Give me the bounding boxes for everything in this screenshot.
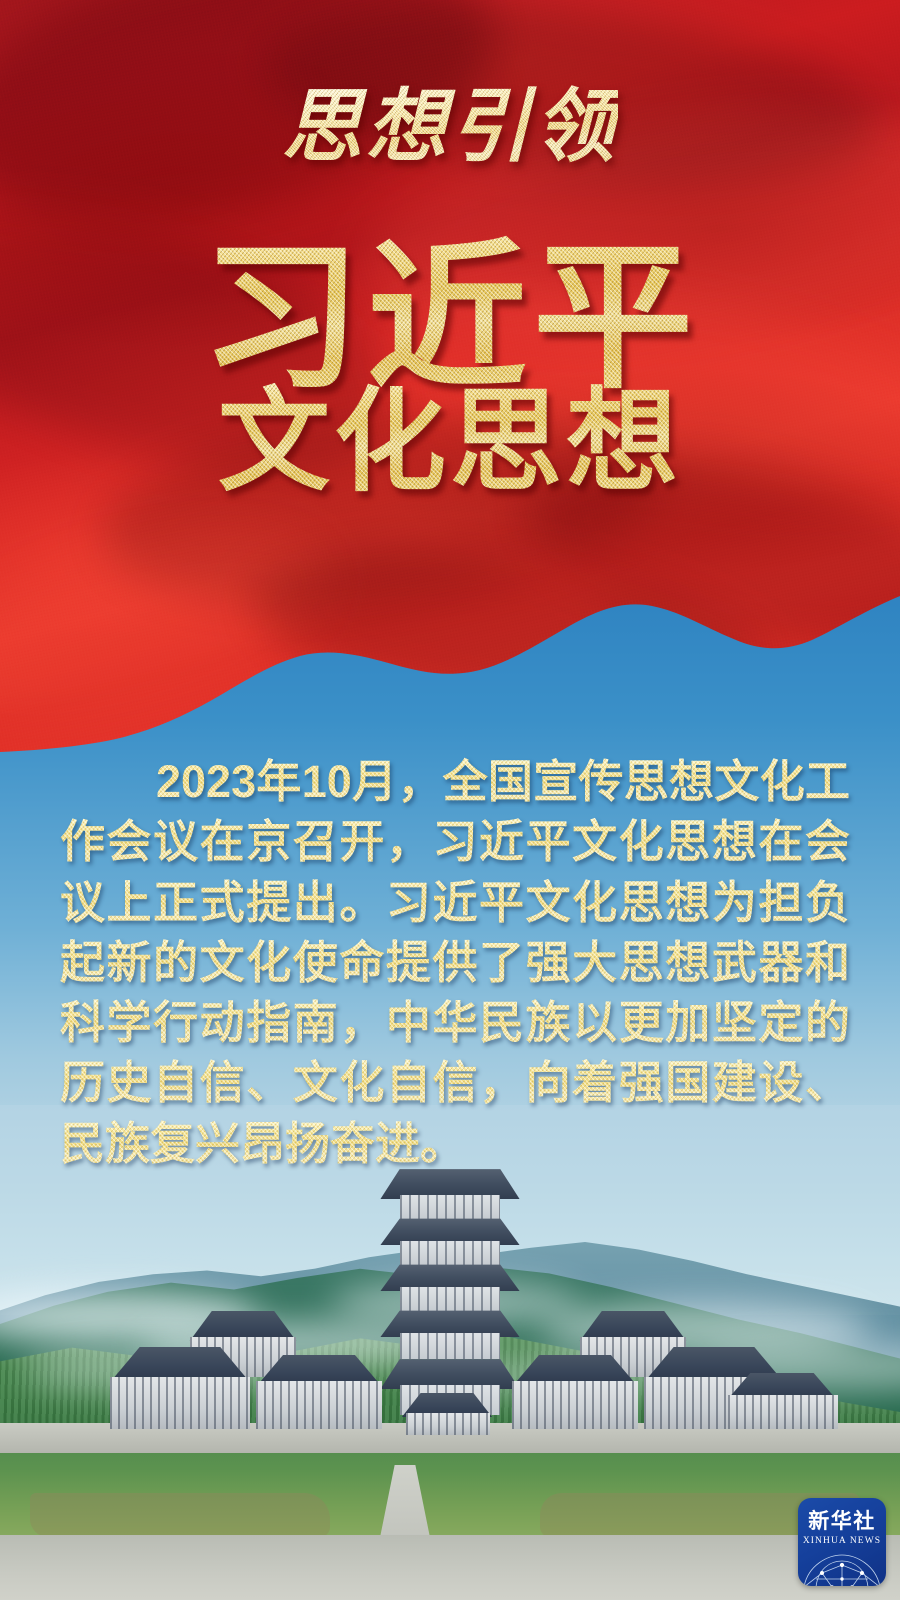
body-paragraph: 2023年10月，全国宣传思想文化工作会议在京召开，习近平文化思想在会议上正式提… — [60, 752, 850, 1174]
hall-body — [512, 1381, 638, 1429]
poster-canvas: 思想引领 习近平 文化思想 2023年10月，全国宣传思想文化工作会议在京召开，… — [0, 0, 900, 1600]
kicker-heading: 思想引领 — [0, 88, 900, 168]
pavilion-storey — [400, 1195, 500, 1219]
pavilion-storey — [400, 1241, 500, 1265]
pavilion-storey — [400, 1333, 500, 1359]
sub-title: 文化思想 — [0, 386, 900, 498]
entry-plaza — [0, 1535, 900, 1600]
pavilion-roof — [376, 1355, 524, 1389]
gate-body — [406, 1413, 490, 1435]
hall-body — [110, 1377, 250, 1429]
hall-body — [256, 1381, 382, 1429]
main-title: 习近平 — [0, 238, 900, 398]
library-photograph: 新华社 XINHUA NEWS — [0, 1105, 900, 1600]
hall-body — [728, 1395, 838, 1429]
xinhua-news-logo[interactable]: 新华社 XINHUA NEWS — [798, 1498, 886, 1586]
pavilion-storey — [400, 1287, 500, 1311]
reflecting-pond-left — [30, 1493, 330, 1537]
logo-english-text: XINHUA NEWS — [803, 1537, 881, 1547]
logo-chinese-text: 新华社 — [808, 1511, 876, 1532]
network-dome-icon — [798, 1549, 886, 1586]
body-paragraph-text: 2023年10月，全国宣传思想文化工作会议在京召开，习近平文化思想在会议上正式提… — [60, 756, 850, 1169]
sub-title-text: 文化思想 — [218, 379, 682, 504]
kicker-text: 思想引领 — [282, 84, 618, 172]
